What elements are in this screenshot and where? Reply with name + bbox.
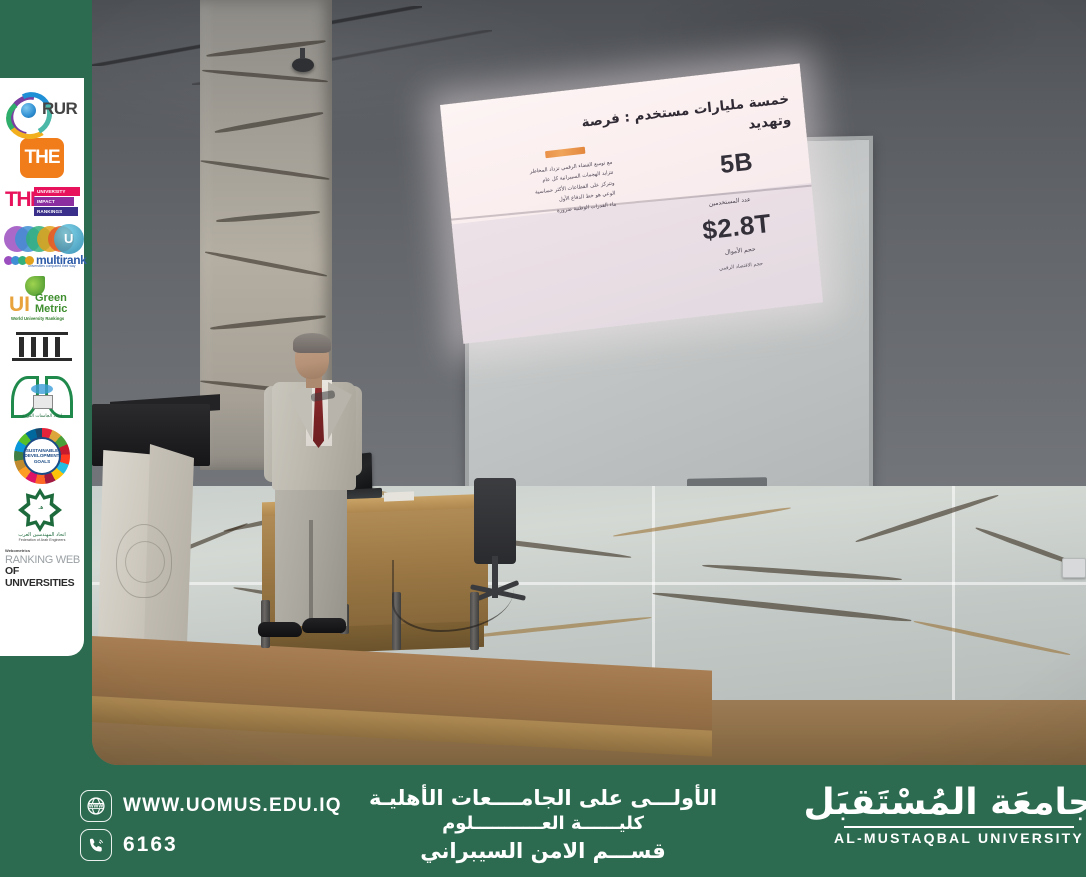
speaker-shoe-left [258, 622, 302, 637]
slide-title: خمسة مليارات مستخدم : فرصة وتهديد [560, 89, 793, 157]
paper-sheet [384, 491, 414, 501]
logo-ranking-web-line3: OF UNIVERSITIES [5, 565, 81, 589]
logo-greenmetric-ui: UI [9, 293, 30, 317]
logo-unesco-columns [2, 328, 82, 368]
speaker-shoe-right [302, 618, 346, 633]
logo-rur: RUR [2, 88, 82, 134]
logo-multirank: U multirank universities compared their … [2, 224, 82, 272]
podium-university-crest [116, 524, 172, 598]
logo-greenmetric-caption: World University Rankings [11, 316, 64, 321]
impact-bar-impact: IMPACT [34, 197, 74, 206]
footer-bar: WWW WWW.UOMUS.EDU.IQ 6163 الأولـــى على … [0, 774, 1086, 877]
university-logo-rule [844, 826, 1074, 828]
chair-backrest [474, 478, 516, 564]
logo-the-impact-rankings: THE UNIVERSITY IMPACT RANKINGS [2, 182, 82, 220]
impact-bar-rankings: RANKINGS [34, 207, 78, 216]
logo-the: THE [2, 138, 82, 178]
logo-fae-caption-en: Federation of Arab Engineers [5, 538, 79, 542]
speaker-hair [293, 333, 331, 353]
logo-sdg-wheel: SUSTAINABLE DEVELOPMENT GOALS [2, 428, 82, 484]
logo-sdg-caption: SUSTAINABLE DEVELOPMENT GOALS [25, 448, 60, 463]
logo-ranking-web: Webometrics RANKING WEB OF UNIVERSITIES [2, 548, 82, 578]
logo-rur-label: RUR [42, 99, 77, 119]
globe-icon [21, 103, 36, 118]
logo-ui-greenmetric: UI GreenMetric World University Rankings [2, 276, 82, 324]
logo-multirank-caption: universities compared their way [28, 264, 76, 268]
university-logo: جامعَة المُسْتَقبَل AL-MUSTAQBAL UNIVERS… [824, 782, 1086, 846]
impact-bar-university: UNIVERSITY [34, 187, 80, 196]
ranking-logos-rail: RUR THE THE UNIVERSITY IMPACT RANKINGS U [0, 78, 84, 656]
university-logo-english: AL-MUSTAQBAL UNIVERSITY [824, 830, 1086, 846]
logo-the-label: THE [25, 147, 60, 169]
ceiling-sensor-icon [292, 58, 314, 72]
wall-socket-dado[interactable] [1062, 558, 1086, 578]
logo-ranking-web-line1: Webometrics [5, 548, 30, 553]
poster-root: خمسة مليارات مستخدم : فرصة وتهديد 5B عدد… [0, 0, 1086, 877]
projected-slide: خمسة مليارات مستخدم : فرصة وتهديد 5B عدد… [440, 63, 823, 343]
slide-metric-users: 5B [719, 147, 755, 180]
logo-federation-arab-engineers: هـ اتحاد المهندسين العرب Federation of A… [2, 488, 82, 544]
logo-association-arab-universities: اتحاد الجامعات العربية [2, 372, 82, 424]
speaker-trouser-seam [309, 520, 313, 626]
university-logo-arabic: جامعَة المُسْتَقبَل [824, 782, 1086, 823]
logo-arab-universities-caption: اتحاد الجامعات العربية [5, 414, 79, 419]
lecture-hall-photo: خمسة مليارات مستخدم : فرصة وتهديد 5B عدد… [92, 0, 1086, 765]
